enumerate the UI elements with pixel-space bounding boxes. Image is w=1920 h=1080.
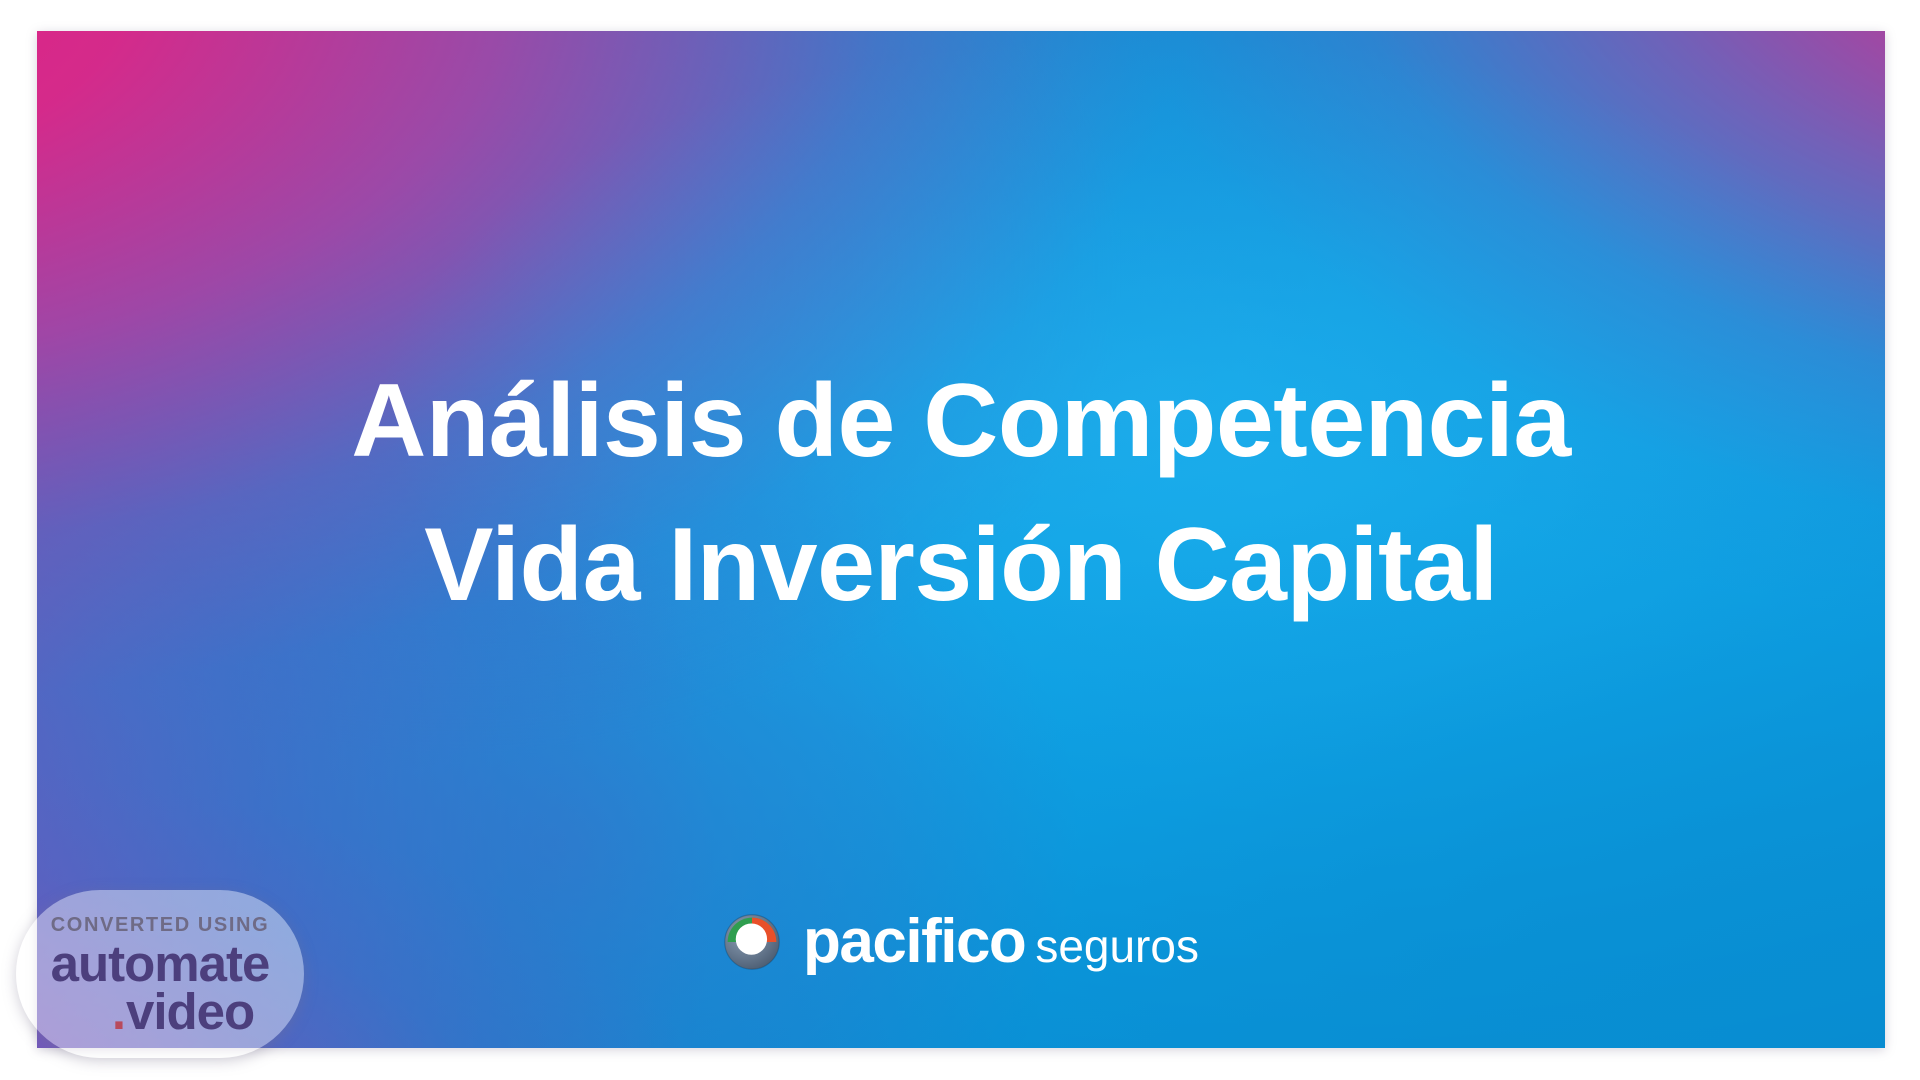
title-line-2: Vida Inversión Capital [37, 493, 1885, 637]
pacifico-globe-icon [723, 913, 781, 971]
slide-title: Análisis de Competencia Vida Inversión C… [37, 349, 1885, 637]
watermark-brand: automate [51, 938, 270, 990]
brand-logo-lockup: pacifico seguros [37, 911, 1885, 973]
screenshot-root: Análisis de Competencia Vida Inversión C… [0, 0, 1920, 1080]
brand-wordmark: pacifico seguros [803, 911, 1199, 973]
presentation-slide: Análisis de Competencia Vida Inversión C… [37, 31, 1885, 1048]
watermark-tld: video [126, 986, 254, 1038]
watermark-eyebrow: CONVERTED USING [51, 913, 269, 937]
brand-name: pacifico [803, 911, 1025, 973]
watermark-tld-row: . video [66, 986, 254, 1038]
conversion-watermark: CONVERTED USING automate . video [16, 890, 304, 1058]
title-line-1: Análisis de Competencia [37, 349, 1885, 493]
watermark-dot: . [112, 986, 126, 1038]
brand-product: seguros [1035, 923, 1199, 969]
